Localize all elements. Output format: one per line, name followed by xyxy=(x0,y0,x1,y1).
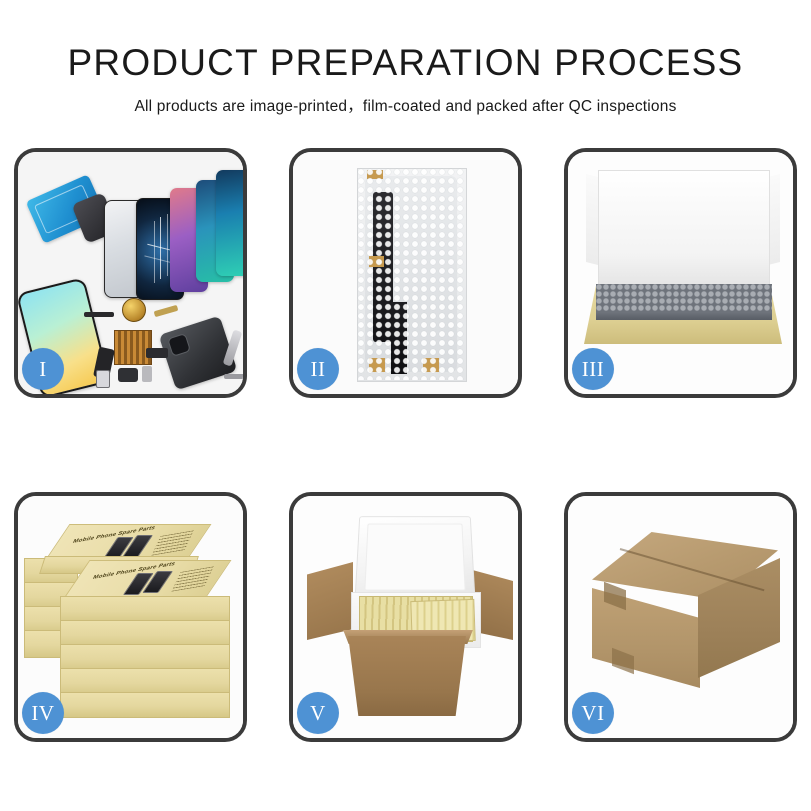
product-preparation-infographic: PRODUCT PREPARATION PROCESS All products… xyxy=(0,0,811,811)
step-panel-2: II xyxy=(289,148,522,398)
step-badge-4: IV xyxy=(22,692,64,734)
small-connector-part xyxy=(142,366,152,382)
step-badge-1: I xyxy=(22,348,64,390)
speaker-module-icon xyxy=(122,298,146,322)
foam-lid-open xyxy=(355,516,476,599)
page-subtitle: All products are image-printed，film-coat… xyxy=(0,94,811,116)
box-print-speclines-2 xyxy=(171,566,214,591)
step-panel-1: I xyxy=(14,148,247,398)
step-badge-5: V xyxy=(297,692,339,734)
box-print-speclines-1 xyxy=(151,530,194,555)
steps-grid: I II xyxy=(14,148,797,742)
flex-cable-2 xyxy=(154,305,179,317)
screws-group xyxy=(224,374,243,379)
step-badge-3: III xyxy=(572,348,614,390)
carton-body xyxy=(343,636,471,716)
flex-cable-4 xyxy=(146,348,168,358)
flex-cable-1 xyxy=(84,312,114,317)
step-panel-3: III xyxy=(564,148,797,398)
step-panel-4: Mobile Phone Spare Parts Mobile Phone Sp… xyxy=(14,492,247,742)
header: PRODUCT PREPARATION PROCESS All products… xyxy=(0,0,811,116)
box-lid-open xyxy=(598,170,770,290)
step-panel-6: VI xyxy=(564,492,797,742)
bubble-cushion-edge xyxy=(596,312,772,320)
bubble-texture-overlay xyxy=(357,168,465,380)
stack-box-front-5 xyxy=(60,692,230,718)
sim-tray-part xyxy=(96,370,110,388)
phone-teal-gradient-2 xyxy=(216,170,243,276)
step-badge-2: II xyxy=(297,348,339,390)
step-panel-5: V xyxy=(289,492,522,742)
camera-module xyxy=(118,368,138,382)
step-badge-6: VI xyxy=(572,692,614,734)
carton-flap-left xyxy=(307,562,353,640)
page-title: PRODUCT PREPARATION PROCESS xyxy=(0,44,811,83)
stack-box-second-lid: Mobile Phone Spare Parts xyxy=(63,560,232,600)
